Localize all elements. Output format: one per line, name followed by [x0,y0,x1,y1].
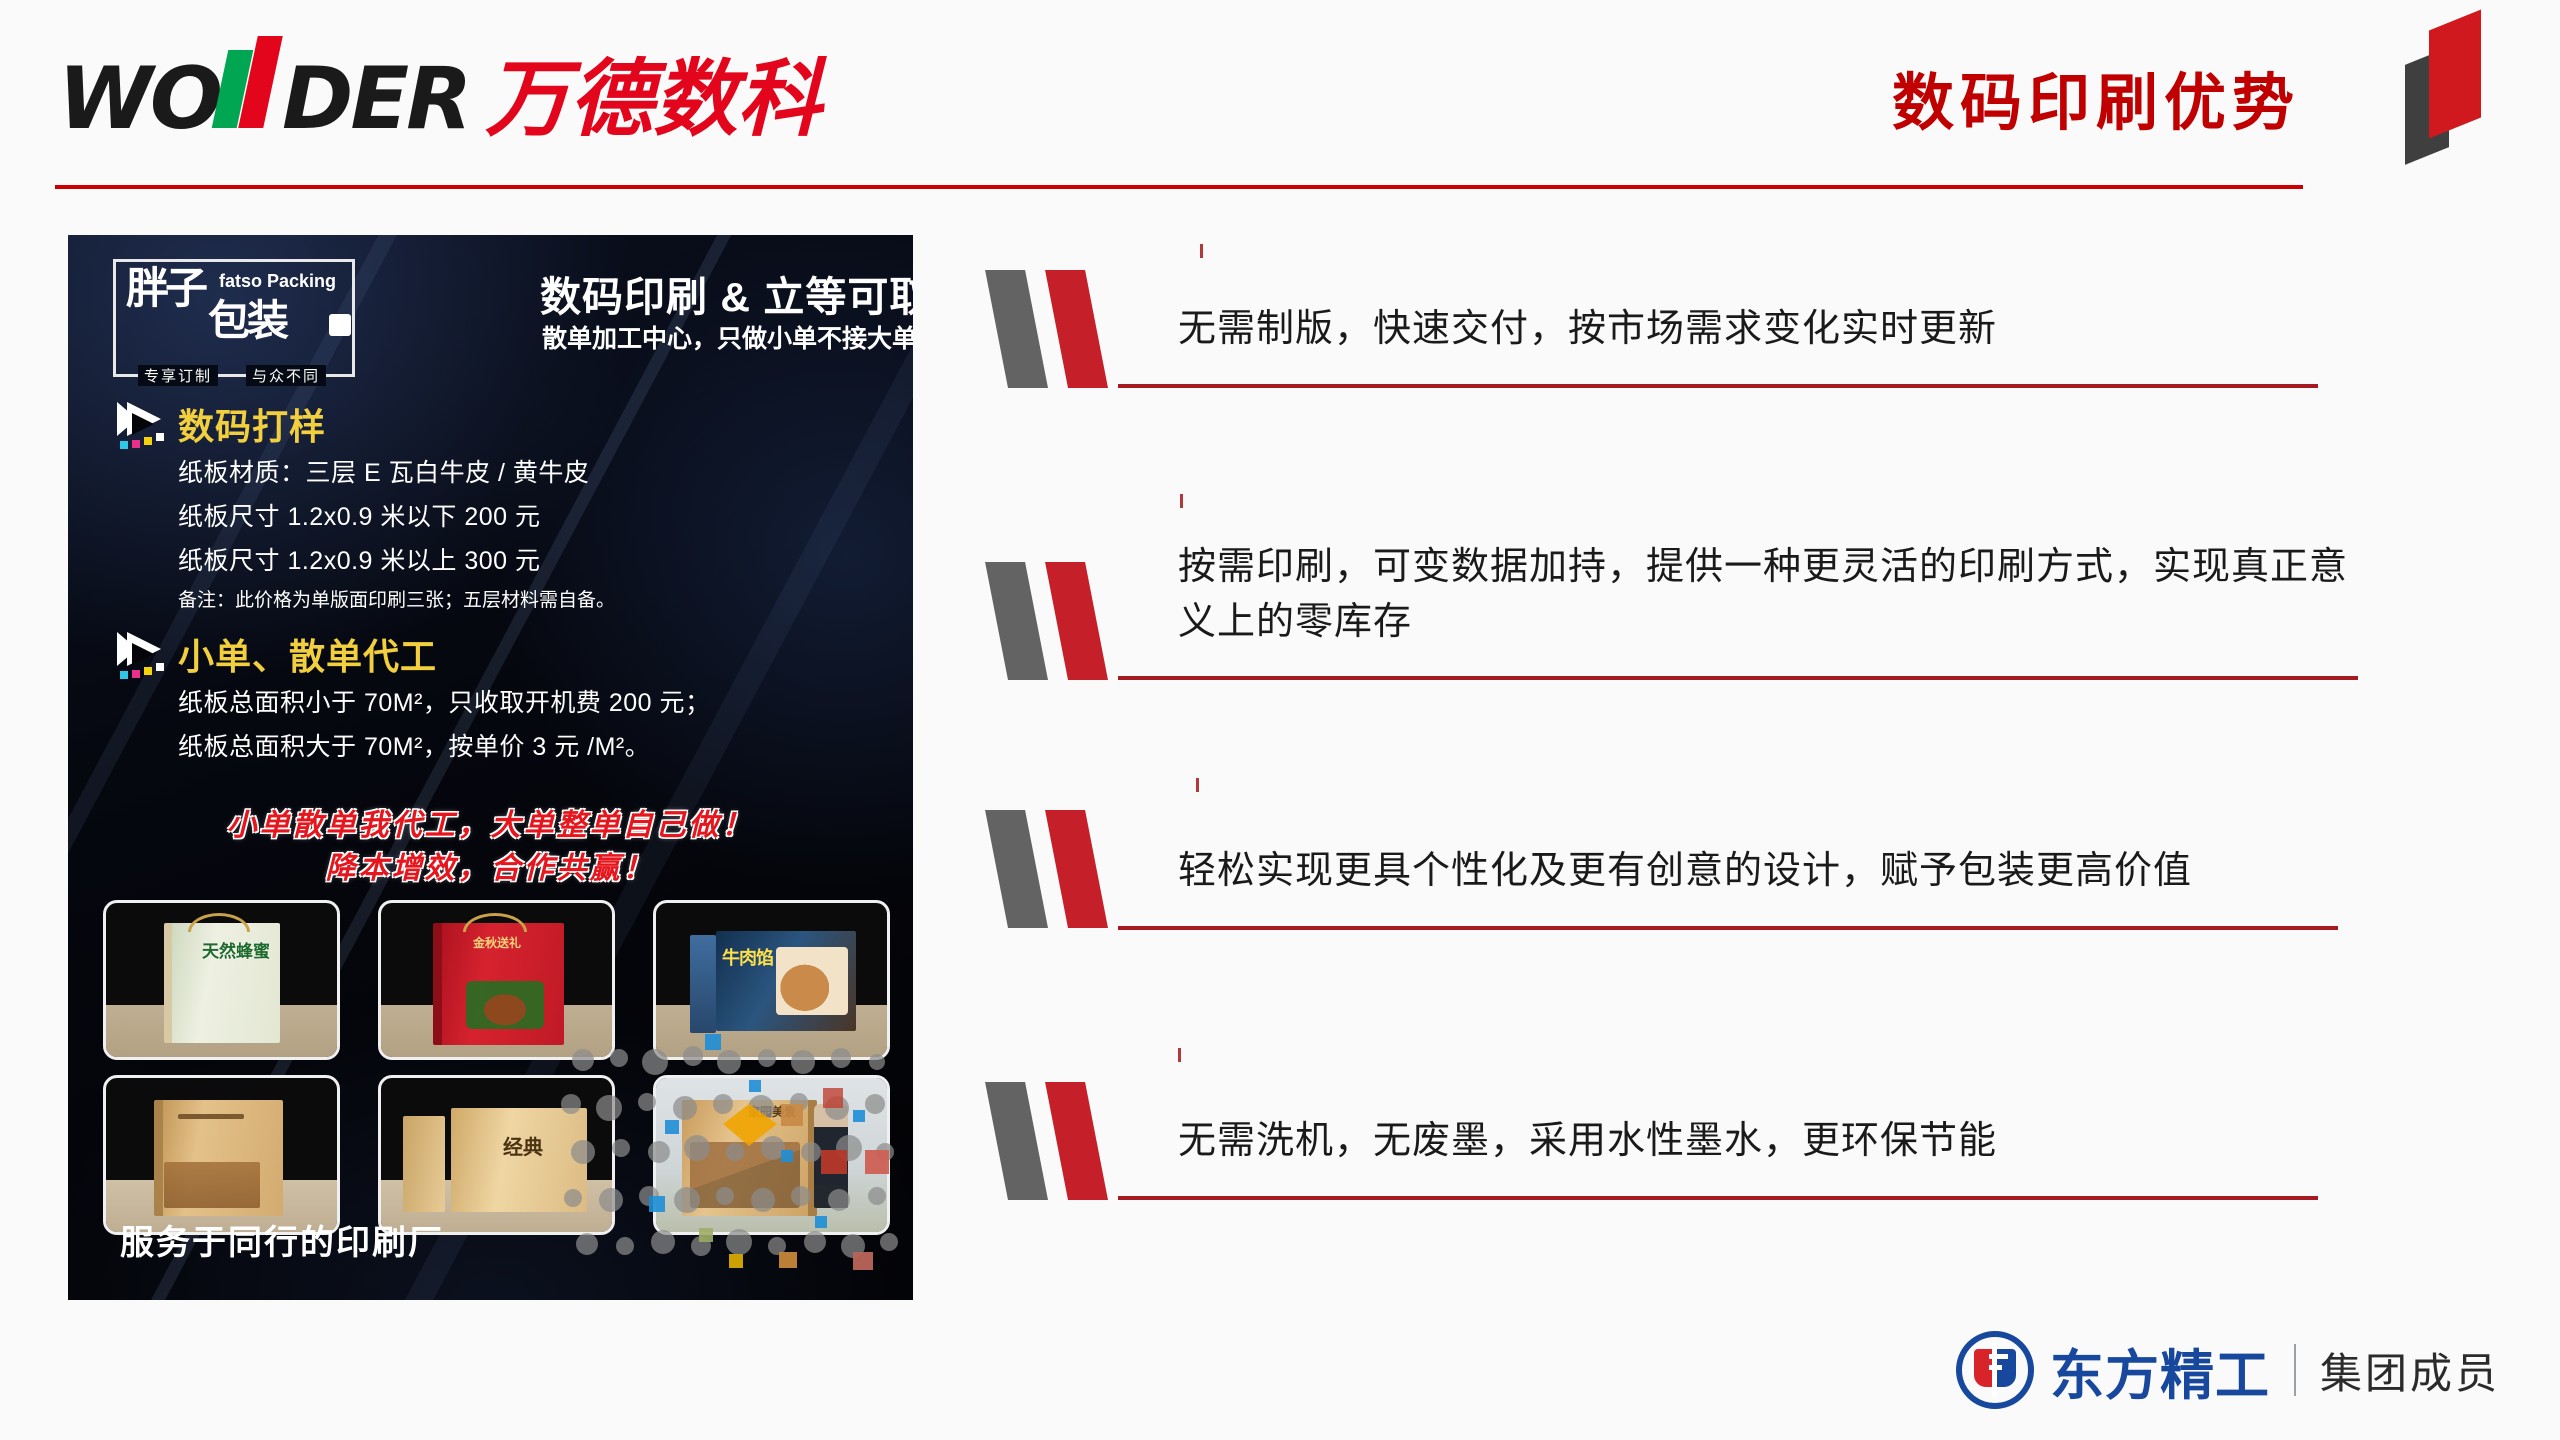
advantage-text-4: 无需洗机，无废墨，采用水性墨水，更环保节能 [1178,1114,2318,1169]
chevron-arrow-icon [113,400,185,458]
advantage-item-3: 轻松实现更具个性化及更有创意的设计，赋予包装更高价值 [1000,800,2360,950]
photo-0-label: 天然蜂蜜 [202,943,270,961]
advantage-text-2: 按需印刷，可变数据加持，提供一种更灵活的印刷方式，实现真正意义上的零库存 [1178,540,2348,650]
marker-bars-4 [1000,1082,1175,1200]
advantage-item-4: 无需洗机，无废墨，采用水性墨水，更环保节能 [1000,1060,2360,1210]
section-1-line-1: 纸板总面积大于 70M²，按单价 3 元 /M²。 [178,727,650,763]
photo-2-label: 牛肉馅 [722,949,773,968]
advantage-text-1: 无需制版，快速交付，按市场需求变化实时更新 [1178,302,2318,357]
poster-slogan-line2: 降本增效，合作共赢！ [68,843,913,887]
header-divider [55,185,2303,189]
section-0-line-2: 纸板尺寸 1.2x0.9 米以上 300 元 [178,541,541,577]
footer-company-name: 东方精工 [2050,1331,2270,1410]
page-title: 数码印刷优势 [1892,52,2300,142]
poster-caption: 服务于同行的印刷厂 [120,1215,444,1264]
product-photo-large-landscape-box: 家园美景 [653,1075,890,1235]
poster-header: 胖子 fatso Packing 包装 专享订制 与众不同 数码印刷 & 立等可… [68,253,913,388]
product-photo-red-gift-box: 金秋送礼 [378,900,615,1060]
marker-bars-1 [1000,270,1175,388]
footer-separator [2294,1344,2296,1396]
wonder-brand-logo: WO DER 万德数科 [58,50,821,142]
fatso-tagline-right: 与众不同 [246,365,326,386]
corner-decoration-icon [2405,8,2515,163]
fatso-logo-cn-line2: 包装 [208,300,286,342]
promo-poster-image: 胖子 fatso Packing 包装 专享订制 与众不同 数码印刷 & 立等可… [68,235,913,1300]
poster-slogan-line1: 小单散单我代工，大单整单自己做！ [68,800,913,844]
tick-mark-icon-4 [1178,1048,1181,1062]
photo-1-label: 金秋送礼 [473,937,521,950]
photo-4-label: 经典 [503,1138,543,1159]
advantage-underline-4 [1118,1196,2318,1200]
fatso-logo-en: fatso Packing [219,271,336,292]
dongfang-jingong-logo-icon [1956,1331,2034,1409]
slide-header: WO DER 万德数科 数码印刷优势 [0,0,2560,200]
marker-bars-3 [1000,810,1175,928]
section-1-line-0: 纸板总面积小于 70M²，只收取开机费 200 元； [178,683,711,719]
footer-member-label: 集团成员 [2320,1340,2500,1401]
photo-5-label: 家园美景 [748,1106,796,1119]
chevron-arrow-icon-2 [113,630,185,688]
advantage-item-2: 按需印刷，可变数据加持，提供一种更灵活的印刷方式，实现真正意义上的零库存 [1000,500,2360,700]
wonder-logo-text-left: WO [58,56,220,142]
poster-title: 数码印刷 & 立等可取 [540,263,913,323]
advantages-list: 无需制版，快速交付，按市场需求变化实时更新 按需印刷，可变数据加持，提供一种更灵… [1000,250,2360,1250]
fatso-logo-cn-line1: 胖子 [126,268,204,311]
wonder-logo-text-right: DER [282,56,469,142]
section-0-note: 备注：此价格为单版面印刷三张；五层材料需自备。 [178,585,615,612]
poster-subtitle: 散单加工中心，只做小单不接大单 [542,319,913,355]
advantage-underline-1 [1118,384,2318,388]
advantage-text-3: 轻松实现更具个性化及更有创意的设计，赋予包装更高价值 [1178,844,2338,899]
tick-mark-icon-2 [1180,494,1183,508]
product-photo-classic-tea-box: 经典 [378,1075,615,1235]
product-photo-kraft-heritage-box [103,1075,340,1235]
footer-group-logo: 东方精工 集团成员 [1956,1322,2500,1418]
product-photo-honey-gift-box: 天然蜂蜜 [103,900,340,1060]
tick-mark-icon-3 [1196,778,1199,792]
product-photo-beef-filling-box: 牛肉馅 [653,900,890,1060]
section-title-small-batch-oem: 小单、散单代工 [178,628,437,680]
wonder-logo-n-glyph [218,50,284,128]
fatso-seal-icon [329,314,351,336]
advantage-underline-2 [1118,676,2358,680]
advantage-item-1: 无需制版，快速交付，按市场需求变化实时更新 [1000,250,2360,400]
section-title-digital-proofing: 数码打样 [178,398,326,450]
marker-bars-2 [1000,562,1175,680]
section-0-line-0: 纸板材质：三层 E 瓦白牛皮 / 黄牛皮 [178,453,589,489]
fatso-packing-logo: 胖子 fatso Packing 包装 专享订制 与众不同 [113,259,355,377]
fatso-tagline-left: 专享订制 [138,365,218,386]
section-0-line-1: 纸板尺寸 1.2x0.9 米以下 200 元 [178,497,541,533]
advantage-underline-3 [1118,926,2338,930]
tick-mark-icon-1 [1200,244,1203,258]
wonder-logo-chinese: 万德数科 [485,57,821,141]
